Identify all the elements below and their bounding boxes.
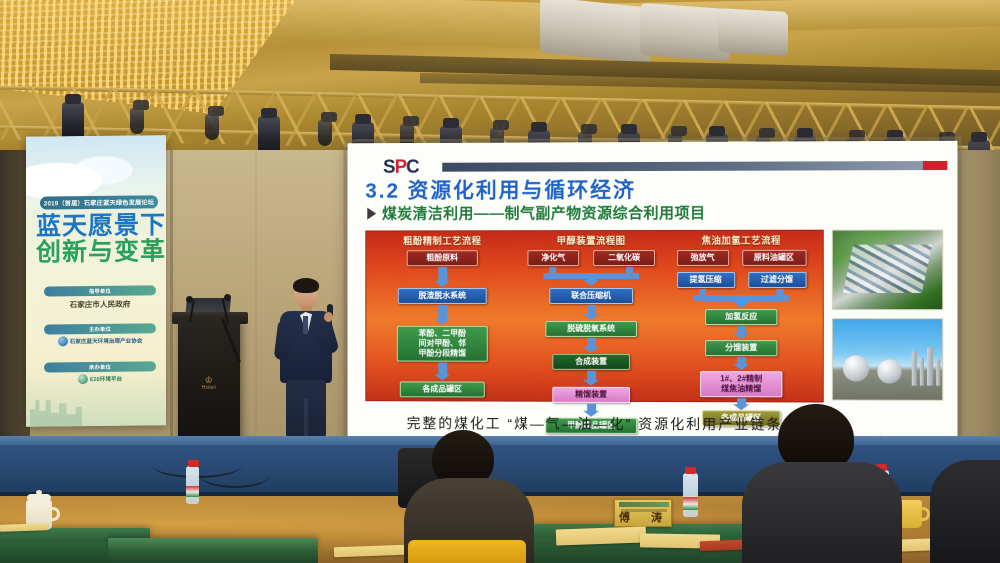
slide-photo-storage-tanks (832, 318, 943, 401)
audience-shoulders (742, 462, 902, 563)
flow-merge-arrow-icon (543, 267, 639, 283)
distillation-tower (927, 347, 933, 385)
flow-arrow-icon (587, 371, 596, 381)
slide-header: SPC (348, 147, 958, 177)
org-role-bar: 主办单位 (44, 323, 156, 334)
distillation-tower (912, 351, 917, 385)
bottle-label (186, 486, 199, 497)
head-table-center (108, 538, 318, 550)
event-banner: 2019（首届）石家庄蓝天绿色发展论坛 蓝天愿景下的 创新与变革 指导单位 石家… (26, 135, 166, 426)
host-logo-icon (58, 336, 68, 346)
flow-column-title: 甲醇装置流程图 (517, 233, 666, 247)
banner-event-tag: 2019（首届）石家庄蓝天绿色发展论坛 (40, 195, 158, 209)
speaker-hair (293, 278, 319, 293)
flow-node: 脱硫脱氧系统 (545, 321, 637, 337)
ceiling-duct (540, 0, 650, 64)
podium-microphone-head (224, 294, 231, 301)
flow-node: 粗酚原料 (407, 250, 478, 266)
flow-node: 过滤分馏 (748, 272, 806, 288)
stage-light (318, 120, 332, 146)
flow-column-title: 粗酚精制工艺流程 (368, 233, 516, 247)
flow-arrow-icon (438, 267, 447, 282)
flow-column-title: 焦油加氢工艺流程 (666, 233, 817, 247)
flow-arrow-icon (438, 305, 447, 320)
flow-node: 弛放气 (677, 250, 729, 266)
flow-node: 净化气 (527, 250, 579, 266)
flow-column-crude-phenol: 粗酚精制工艺流程 粗酚原料 脱渣脱水系统 苯酚、二甲酚 间对甲酚、邻 甲酚分段精… (368, 233, 516, 397)
speaker-tie (303, 316, 308, 334)
podium-hotel-text: Hotel (202, 385, 216, 391)
audience-chair-seat (408, 540, 526, 563)
flow-node: 分馏装置 (705, 340, 777, 356)
conference-photo-scene: 2019（首届）石家庄蓝天绿色发展论坛 蓝天愿景下的 创新与变革 指导单位 石家… (0, 0, 1000, 563)
banner-headline-line1: 蓝天愿景下的 (36, 213, 166, 239)
tea-cup-lid (27, 494, 51, 502)
header-accent-bar-red (923, 161, 947, 170)
ceiling-duct (640, 3, 730, 61)
org-role-label: 主办单位 (89, 325, 111, 332)
flow-node: 各成品罐区 (400, 381, 485, 397)
bottle-cap (685, 467, 696, 474)
org-role-label: 承办单位 (89, 363, 111, 370)
namecard-org-line (621, 509, 667, 512)
tea-cup-knob (36, 490, 42, 495)
flow-column-tar-hydrogenation: 焦油加氢工艺流程 弛放气 原料油罐区 提氢压缩 过滤分馏 加氢反应 分馏装置 1… (666, 233, 817, 427)
flow-node-pair: 弛放气 原料油罐区 (666, 250, 817, 266)
crown-icon: ♔ (202, 376, 216, 385)
flow-arrow-icon (587, 404, 596, 412)
audience-person-far-right (930, 460, 1000, 563)
banner-event-tag-text: 2019（首届）石家庄蓝天绿色发展论坛 (44, 197, 154, 207)
stage-cable (200, 462, 270, 488)
flow-node: 加氢反应 (705, 309, 777, 325)
org-logo-row: 石家庄蓝天环境治理产业协会 (44, 335, 156, 346)
speaker-hand (324, 312, 333, 322)
ceiling-duct (718, 8, 788, 56)
header-accent-bar (442, 161, 923, 172)
sphere-tank (843, 356, 869, 382)
flow-node: 原料油罐区 (742, 250, 806, 266)
stage-light (205, 114, 219, 140)
water-bottle (186, 466, 199, 504)
flow-node: 合成装置 (552, 354, 630, 370)
speaker-presenter (272, 280, 342, 450)
sphere-tank (877, 359, 901, 383)
namecard-header-band (619, 502, 669, 507)
wall-seam (170, 150, 173, 450)
document-papers (556, 526, 647, 545)
audience-person-right (742, 404, 902, 563)
bottle-cap (188, 460, 199, 467)
flow-node: 二氧化碳 (593, 250, 655, 266)
flow-arrow-icon (438, 363, 447, 376)
banner-headline-line2: 创新与变革 (36, 239, 166, 265)
flow-arrow-icon (737, 326, 746, 334)
process-flow-panel: 粗酚精制工艺流程 粗酚原料 脱渣脱水系统 苯酚、二甲酚 间对甲酚、邻 甲酚分段精… (365, 230, 823, 403)
distillation-tower (936, 359, 940, 385)
slide-subtitle: 煤炭清洁利用——制气副产物资源综合利用项目 (367, 202, 705, 224)
projection-screen: SPC 3.2 资源化利用与循环经济 煤炭清洁利用——制气副产物资源综合利用项目… (348, 141, 958, 449)
org-role-bar: 指导单位 (44, 285, 156, 296)
org-role-label: 指导单位 (89, 287, 111, 294)
flow-arrow-icon (587, 305, 596, 315)
flow-node: 苯酚、二甲酚 间对甲酚、邻 甲酚分段精馏 (397, 326, 488, 362)
podium-crest: ♔ Hotel (202, 376, 216, 391)
delegate-namecard: 傅 涛 (614, 499, 672, 527)
triangle-bullet-icon (367, 207, 376, 219)
wall-seam (255, 150, 257, 450)
org-role-bar: 承办单位 (44, 361, 156, 372)
stage-light (130, 108, 144, 134)
flow-node: 脱渣脱水系统 (398, 288, 487, 304)
flow-node: 精馏装置 (552, 387, 630, 403)
flow-node: 提氢压缩 (677, 272, 735, 288)
speaker-leg-gap (304, 398, 308, 438)
flow-column-methanol: 甲醇装置流程图 净化气 二氧化碳 联合压缩机 脱硫脱氧系统 合成装置 精馏装置 … (517, 233, 666, 434)
flow-node: 联合压缩机 (549, 288, 633, 304)
flow-arrow-icon (737, 357, 746, 365)
slide-title: 3.2 资源化利用与循环经济 (365, 174, 636, 205)
namecard-name: 傅 涛 (619, 513, 667, 524)
flow-merge-arrow-icon (693, 289, 789, 305)
distillation-tower (920, 357, 924, 385)
banner-org-guidance: 指导单位 石家庄市人民政府 (44, 285, 156, 310)
org-name: 石家庄市人民政府 (44, 298, 156, 310)
flow-node-pair: 提氢压缩 过滤分馏 (666, 272, 817, 288)
slide-photo-aerial-plant (832, 229, 943, 310)
head-table-center-skirt (108, 550, 318, 563)
banner-org-host: 主办单位 石家庄蓝天环境治理产业协会 (44, 323, 156, 346)
org-name: 石家庄蓝天环境治理产业协会 (70, 337, 143, 346)
flow-arrow-icon (587, 338, 596, 348)
flow-node-pair: 净化气 二氧化碳 (517, 250, 666, 266)
slide-subtitle-text: 煤炭清洁利用——制气副产物资源综合利用项目 (382, 202, 706, 224)
bottle-label (683, 497, 698, 510)
audience-shoulders (930, 460, 1000, 563)
water-bottle (683, 473, 698, 517)
flow-node: 1#、2#精制 煤焦油精馏 (700, 371, 782, 397)
